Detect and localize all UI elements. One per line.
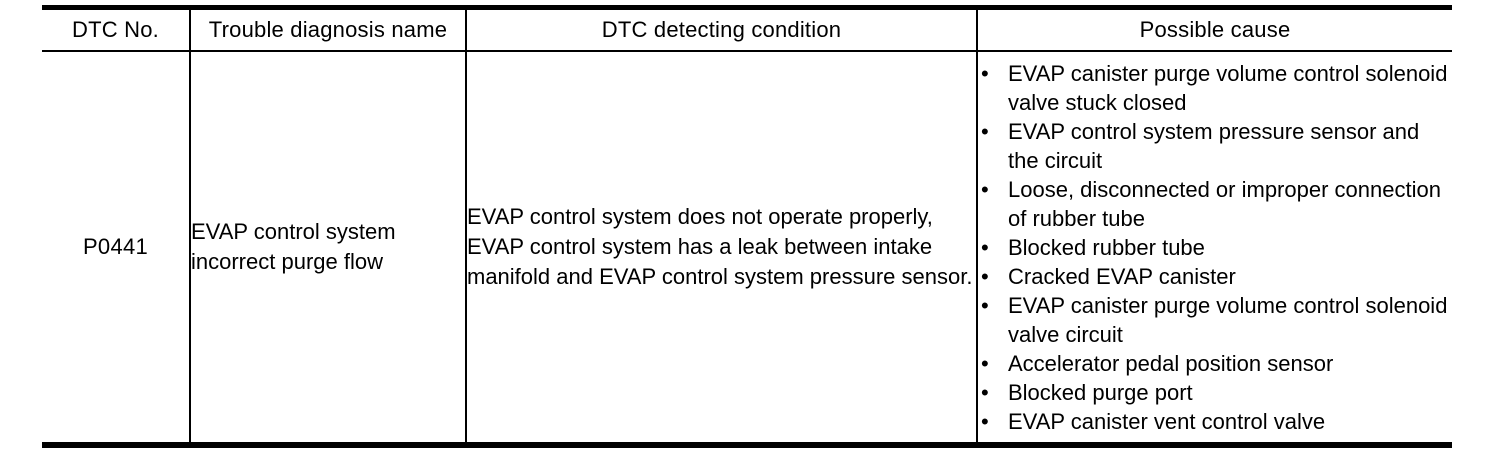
list-item: •EVAP canister vent control valve — [978, 407, 1452, 436]
list-item: •Loose, disconnected or improper connect… — [978, 175, 1452, 233]
list-item-label: EVAP canister purge volume control solen… — [1008, 293, 1447, 347]
bullet-icon: • — [981, 378, 989, 407]
cell-dtc-detecting-condition: EVAP control system does not operate pro… — [466, 51, 977, 445]
bullet-icon: • — [981, 59, 989, 88]
bullet-icon: • — [981, 117, 989, 146]
column-header-possible-cause: Possible cause — [977, 8, 1452, 52]
list-item-label: Blocked rubber tube — [1008, 235, 1205, 260]
list-item: •EVAP canister purge volume control sole… — [978, 59, 1452, 117]
bullet-icon: • — [981, 262, 989, 291]
list-item: •Blocked purge port — [978, 378, 1452, 407]
column-header-dtc-detecting-condition: DTC detecting condition — [466, 8, 977, 52]
list-item-label: Blocked purge port — [1008, 380, 1193, 405]
cell-trouble-diagnosis-name: EVAP control system incorrect purge flow — [190, 51, 466, 445]
bullet-icon: • — [981, 233, 989, 262]
cell-possible-cause: •EVAP canister purge volume control sole… — [977, 51, 1452, 445]
list-item-label: Loose, disconnected or improper connecti… — [1008, 177, 1441, 231]
list-item-label: EVAP control system pressure sensor and … — [1008, 119, 1419, 173]
list-item-label: Accelerator pedal position sensor — [1008, 351, 1333, 376]
bullet-icon: • — [981, 291, 989, 320]
bullet-icon: • — [981, 349, 989, 378]
possible-cause-list: •EVAP canister purge volume control sole… — [978, 59, 1452, 436]
list-item: •EVAP canister purge volume control sole… — [978, 291, 1452, 349]
document-page: DTC No. Trouble diagnosis name DTC detec… — [0, 0, 1504, 456]
dtc-trouble-diagnosis-table: DTC No. Trouble diagnosis name DTC detec… — [42, 5, 1452, 448]
cell-dtc-no: P0441 — [42, 51, 190, 445]
list-item: •Blocked rubber tube — [978, 233, 1452, 262]
list-item-label: EVAP canister purge volume control solen… — [1008, 61, 1447, 115]
list-item: •EVAP control system pressure sensor and… — [978, 117, 1452, 175]
bullet-icon: • — [981, 175, 989, 204]
list-item: •Accelerator pedal position sensor — [978, 349, 1452, 378]
list-item-label: EVAP canister vent control valve — [1008, 409, 1325, 434]
table-header-row: DTC No. Trouble diagnosis name DTC detec… — [42, 8, 1452, 52]
table-row: P0441 EVAP control system incorrect purg… — [42, 51, 1452, 445]
column-header-trouble-diagnosis-name: Trouble diagnosis name — [190, 8, 466, 52]
column-header-dtc-no: DTC No. — [42, 8, 190, 52]
bullet-icon: • — [981, 407, 989, 436]
list-item-label: Cracked EVAP canister — [1008, 264, 1236, 289]
list-item: •Cracked EVAP canister — [978, 262, 1452, 291]
